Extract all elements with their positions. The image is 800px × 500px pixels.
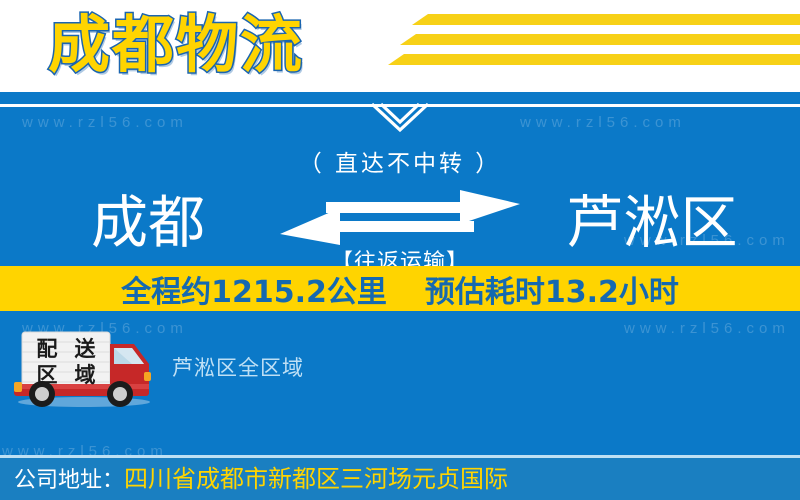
stripe-3 [388,54,800,65]
header-stripes-decoration [380,14,800,76]
poster-body: www.rzl56.com www.rzl56.com www.rzl56.co… [0,92,800,455]
watermark: www.rzl56.com [2,443,168,455]
stripe-2 [400,34,800,45]
delivery-row: 配 送 区 域 芦淞区全区域 [0,324,800,414]
metrics-band: 全程约1215.2公里 预估耗时13.2小时 [0,266,800,311]
estimated-duration: 预估耗时13.2小时 [425,267,679,311]
company-address-line: 公司地址：四川省成都市新都区三河场元贞国际 [14,458,508,500]
watermark: www.rzl56.com [520,114,686,131]
coverage-area-text: 芦淞区全区域 [172,352,304,382]
direct-shipping-note: （ 直达不中转 ） [0,144,800,178]
company-address-label: 公司地址： [14,468,124,493]
stripe-1 [412,14,800,25]
brand-title: 成都物流 [48,2,304,88]
total-distance: 全程约1215.2公里 [121,267,387,311]
poster-footer: 公司地址：四川省成都市新都区三河场元贞国际 [0,458,800,500]
destination-city: 芦淞区 [522,184,782,262]
company-address-value: 四川省成都市新都区三河场元贞国际 [124,465,508,493]
logistics-route-poster: 成都物流 www.rzl56.com www.rzl56.com www.rzl… [0,0,800,500]
double-arrow-left-right-icon [278,188,522,250]
origin-city: 成都 [18,184,278,262]
route-row: 成都 【往返运输】 芦淞区 [0,184,800,262]
watermark: www.rzl56.com [22,114,188,131]
double-chevron-down-icon [352,101,448,135]
poster-header: 成都物流 [0,0,800,92]
delivery-truck-icon: 配 送 区 域 [8,326,156,408]
